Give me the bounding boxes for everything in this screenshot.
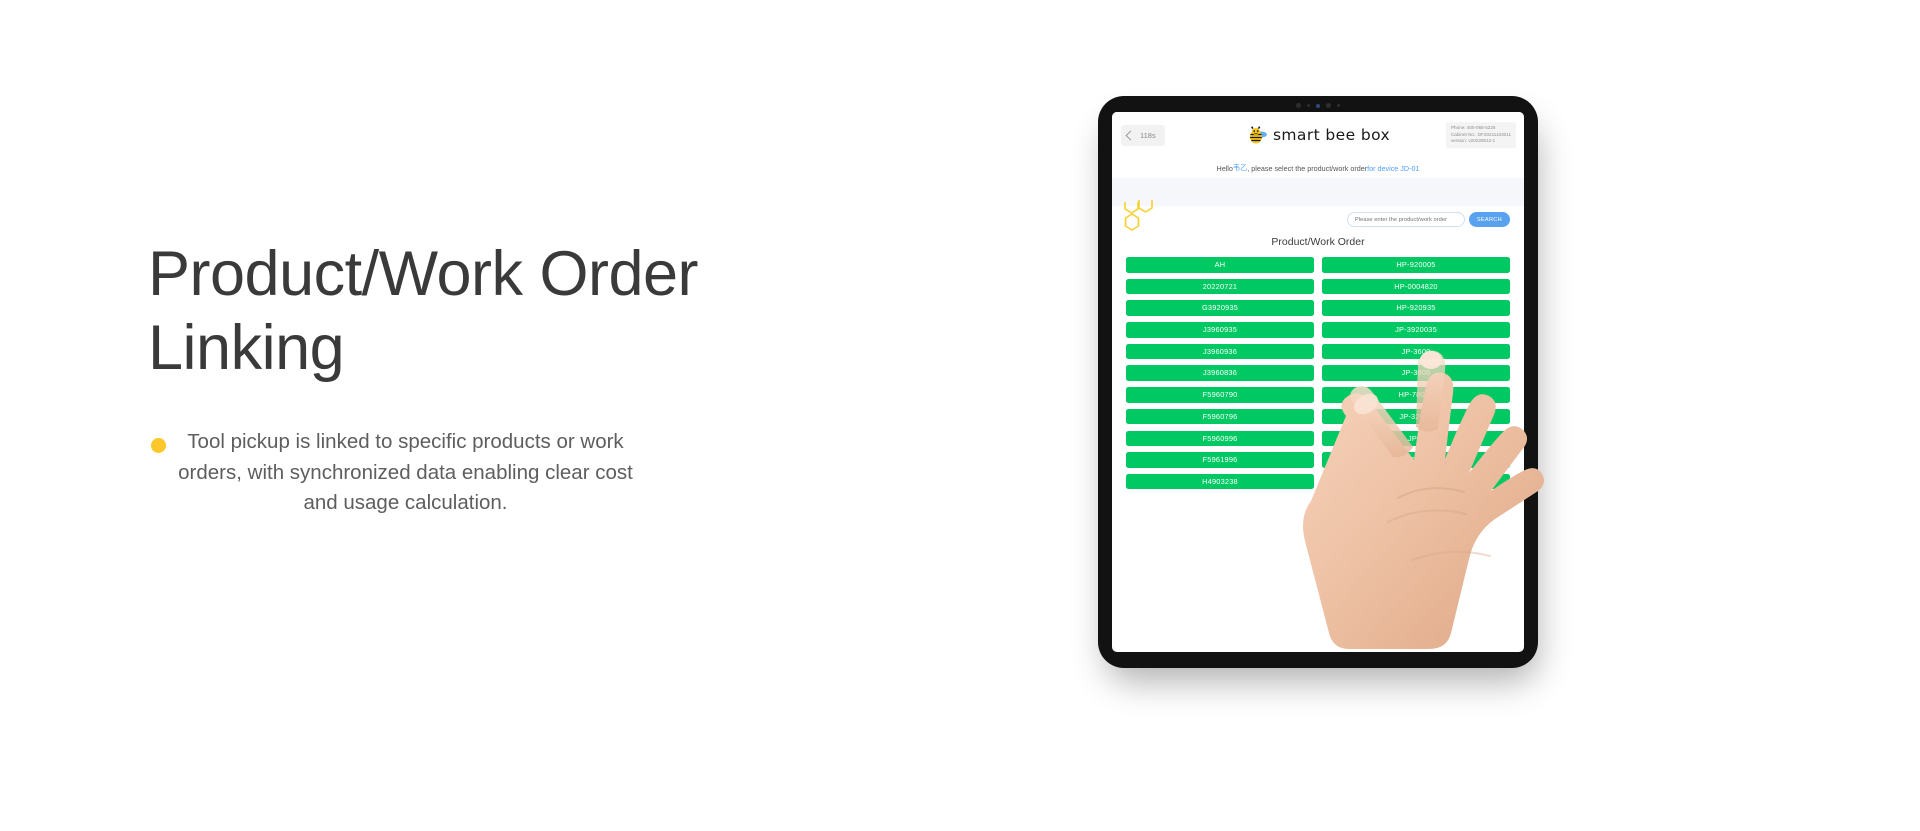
- greeting-prefix: Hello: [1217, 164, 1233, 173]
- product-order-item[interactable]: HP-0004820: [1322, 279, 1510, 295]
- text-column: Product/Work Order Linking Tool pickup i…: [148, 238, 768, 518]
- greeting-bar: Hello 韦乙, please select the product/work…: [1112, 158, 1524, 178]
- product-order-item[interactable]: JP-3600: [1322, 365, 1510, 381]
- tablet-frame: 118s: [1098, 96, 1538, 668]
- product-order-item[interactable]: F5960790: [1126, 387, 1314, 403]
- app-header: 118s: [1112, 112, 1524, 158]
- product-order-item[interactable]: HP-920935: [1322, 300, 1510, 316]
- product-order-item[interactable]: J3960935: [1126, 322, 1314, 338]
- greeting-device-link[interactable]: for device JD-01: [1367, 164, 1419, 173]
- product-order-item[interactable]: AH: [1126, 257, 1314, 273]
- search-button[interactable]: SEARCH: [1469, 212, 1510, 227]
- bullet-dot-icon: [151, 438, 166, 453]
- back-button[interactable]: 118s: [1121, 125, 1165, 146]
- product-order-item[interactable]: J3960936: [1126, 344, 1314, 360]
- meta-version: version: v20230812-1: [1451, 138, 1511, 145]
- device-meta: Phone: 400-068-5225 Cabinet No.: DF20211…: [1446, 122, 1516, 148]
- header-spacer: [1112, 178, 1524, 206]
- session-timer: 118s: [1140, 131, 1156, 140]
- search-row: SEARCH: [1118, 206, 1518, 227]
- page-title: Product/Work Order Linking: [148, 238, 768, 385]
- search-input[interactable]: [1347, 212, 1465, 227]
- bullet-item: Tool pickup is linked to specific produc…: [151, 427, 768, 518]
- bee-icon: [1246, 125, 1268, 145]
- product-order-item[interactable]: F5960996: [1126, 431, 1314, 447]
- bullet-text: Tool pickup is linked to specific produc…: [178, 427, 633, 518]
- product-order-item[interactable]: G3920935: [1126, 300, 1314, 316]
- tablet-screen: 118s: [1112, 112, 1524, 652]
- brand-logo: smart bee box: [1246, 125, 1390, 145]
- greeting-middle: , please select the product/work order: [1247, 164, 1367, 173]
- product-order-card: SEARCH Product/Work Order AHHP-920005202…: [1118, 206, 1518, 606]
- slide-root: Product/Work Order Linking Tool pickup i…: [0, 0, 1920, 831]
- product-order-item[interactable]: F5960796: [1126, 409, 1314, 425]
- product-order-item[interactable]: JP-4: [1322, 452, 1510, 468]
- chevron-left-icon: [1126, 130, 1136, 140]
- honeycomb-icon: [1122, 200, 1162, 246]
- product-order-item[interactable]: 20220721: [1126, 279, 1314, 295]
- product-order-item[interactable]: HP-920005: [1322, 257, 1510, 273]
- card-title: Product/Work Order: [1118, 236, 1518, 248]
- product-order-item[interactable]: HP-78090: [1322, 387, 1510, 403]
- product-order-item[interactable]: JP-4003356: [1322, 474, 1510, 490]
- product-order-item[interactable]: H4903238: [1126, 474, 1314, 490]
- product-order-item[interactable]: JP-32093: [1322, 409, 1510, 425]
- product-order-grid: AHHP-92000520220721HP-0004820G3920935HP-…: [1118, 257, 1518, 501]
- product-order-item[interactable]: JP-3920035: [1322, 322, 1510, 338]
- product-order-item[interactable]: J3960836: [1126, 365, 1314, 381]
- product-order-item[interactable]: F5961996: [1126, 452, 1314, 468]
- camera-array-icon: [1296, 103, 1340, 108]
- product-order-item[interactable]: JP-3: [1322, 431, 1510, 447]
- brand-name: smart bee box: [1273, 126, 1390, 144]
- product-order-item[interactable]: JP-3600: [1322, 344, 1510, 360]
- tablet-device: 118s: [1098, 96, 1548, 676]
- greeting-username: 韦乙: [1233, 163, 1247, 173]
